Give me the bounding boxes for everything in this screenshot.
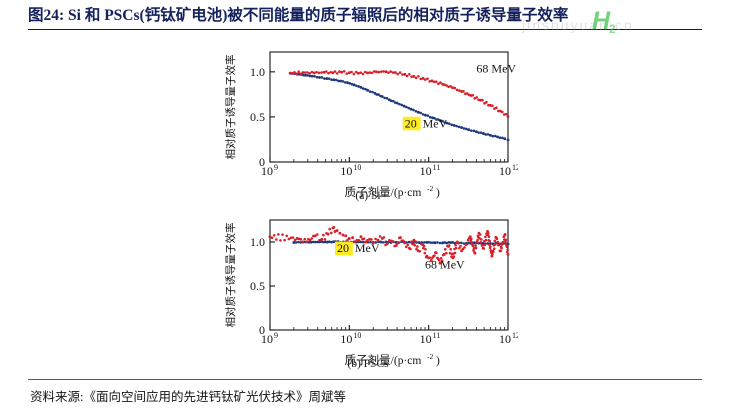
- series-annotation: 20 MeV: [335, 241, 380, 255]
- x-tick-exponent: 9: [274, 163, 278, 172]
- x-tick-label: 10: [420, 332, 432, 346]
- source-note: 资料来源:《面向空间应用的先进钙钛矿光伏技术》周斌等: [30, 386, 346, 405]
- chart-si: 10910101011101200.51.020 MeV68 MeV质子剂量/(…: [218, 42, 518, 208]
- page-title: 图24: Si 和 PSCs(钙钛矿电池)被不同能量的质子辐照后的相对质子诱导量…: [28, 6, 702, 26]
- x-tick-exponent: 12: [512, 331, 518, 340]
- y-tick-label: 1.0: [250, 65, 265, 79]
- y-axis-title: 相对质子诱导量子效率: [224, 55, 237, 160]
- x-tick-label: 10: [420, 164, 432, 178]
- y-tick-label: 1.0: [250, 235, 265, 249]
- x-tick-label: 10: [499, 332, 511, 346]
- x-tick-label: 10: [499, 164, 511, 178]
- x-tick-exponent: 11: [433, 163, 441, 172]
- series-annotation: 20 MeV: [403, 116, 448, 130]
- x-tick-label: 10: [340, 164, 352, 178]
- chart-pscs-caption: (b) PSCs: [218, 358, 518, 370]
- series-annotation: 68 MeV: [476, 62, 516, 76]
- annotation-unit: MeV: [423, 116, 448, 130]
- footer-divider: [28, 379, 702, 380]
- annotation-label: 68 MeV: [476, 62, 516, 76]
- annotation-unit: MeV: [355, 241, 380, 255]
- y-tick-label: 0: [259, 323, 265, 337]
- x-tick-exponent: 10: [353, 163, 361, 172]
- x-tick-exponent: 12: [512, 163, 518, 172]
- y-tick-label: 0: [259, 155, 265, 169]
- x-tick-exponent: 11: [433, 331, 441, 340]
- header-divider: [28, 29, 702, 30]
- x-tick-exponent: 9: [274, 331, 278, 340]
- annotation-number: 20: [405, 116, 417, 130]
- annotation-number: 20: [337, 241, 349, 255]
- chart-pscs-svg: 10910101011101200.51.020 MeV68 MeV质子剂量/(…: [218, 210, 518, 376]
- annotation-label: 68 MeV: [425, 257, 465, 271]
- y-tick-label: 0.5: [250, 279, 265, 293]
- x-tick-exponent: 10: [353, 331, 361, 340]
- x-tick-label: 10: [340, 332, 352, 346]
- chart-si-svg: 10910101011101200.51.020 MeV68 MeV质子剂量/(…: [218, 42, 518, 208]
- series-annotation: 68 MeV: [425, 257, 465, 271]
- chart-pscs: 10910101011101200.51.020 MeV68 MeV质子剂量/(…: [218, 210, 518, 376]
- y-tick-label: 0.5: [250, 110, 265, 124]
- chart-si-caption: (a) Si: [218, 190, 518, 202]
- y-axis-title: 相对质子诱导量子效率: [224, 223, 237, 328]
